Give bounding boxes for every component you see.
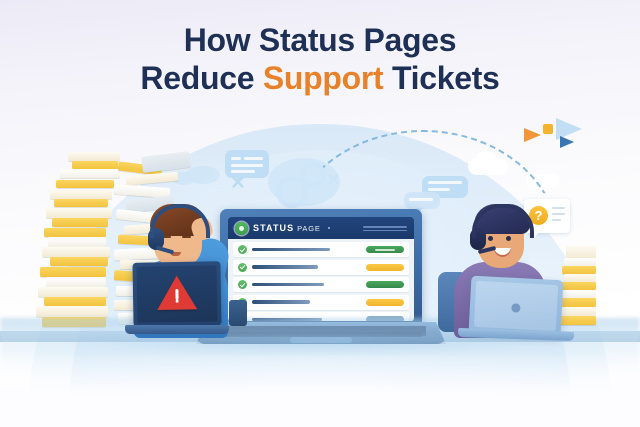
- paper-plane-icon: [560, 136, 574, 148]
- status-page-title: STATUS PAGE: [253, 223, 321, 233]
- right-laptop: [469, 276, 564, 337]
- status-badge: [366, 299, 404, 306]
- ticket: [558, 298, 596, 307]
- left-laptop-base: [125, 325, 229, 334]
- status-page-laptop: STATUS PAGE: [220, 209, 422, 327]
- service-name-placeholder: [252, 248, 330, 251]
- header-meta-line: [363, 226, 407, 228]
- ticket: [562, 266, 596, 274]
- status-row[interactable]: [233, 295, 409, 310]
- bubble-line: [244, 157, 263, 160]
- ticket: [564, 274, 596, 282]
- service-name-placeholder: [252, 265, 318, 268]
- ticket: [562, 290, 596, 298]
- title-highlight: Support: [263, 60, 392, 96]
- ticket: [566, 246, 596, 258]
- header-dot: [328, 227, 330, 229]
- ticket: [38, 287, 108, 297]
- illustration-canvas: ✕ ✕ ?: [0, 0, 640, 427]
- ticket: [42, 247, 110, 257]
- check-circle-icon: [238, 245, 247, 254]
- header-meta: [363, 226, 407, 231]
- title-line-1: How Status Pages: [184, 22, 457, 58]
- title-line-2-part-1: Reduce: [140, 60, 262, 96]
- ticket: [48, 237, 106, 247]
- status-page-screen[interactable]: STATUS PAGE: [228, 217, 414, 321]
- status-badge: [366, 264, 404, 271]
- warning-exclamation-bar: [175, 289, 178, 300]
- status-page-rows: [228, 239, 414, 321]
- ticket: [564, 258, 596, 266]
- plane-badge-icon: [543, 124, 553, 134]
- title-line-2: Reduce Support Tickets: [0, 60, 640, 98]
- check-circle-icon: [238, 263, 247, 272]
- ticket: [52, 218, 108, 227]
- status-badge: [366, 281, 404, 288]
- ticket: [126, 172, 179, 185]
- left-laptop-screen: [137, 265, 218, 322]
- status-page-header: STATUS PAGE: [228, 217, 414, 239]
- ticket: [36, 306, 108, 317]
- left-laptop: [132, 261, 221, 327]
- status-row[interactable]: [233, 260, 409, 275]
- page-title: How Status Pages Reduce Support Tickets: [0, 22, 640, 98]
- ticket: [560, 282, 596, 290]
- ticket: [556, 316, 596, 325]
- ticket: [72, 161, 118, 169]
- ticket: [40, 267, 106, 277]
- paper-plane-icon: [524, 128, 541, 142]
- ticket: [54, 199, 108, 207]
- right-laptop-screen: [474, 281, 558, 331]
- brand-primary: STATUS: [253, 223, 294, 233]
- bubble-line: [231, 157, 241, 160]
- status-row[interactable]: [233, 277, 409, 292]
- laptop-logo-icon: [511, 304, 520, 313]
- ticket: [68, 152, 120, 161]
- ticket: [60, 169, 120, 178]
- x-mark-icon: ✕: [230, 172, 246, 195]
- status-row[interactable]: [233, 242, 409, 257]
- ticket: [50, 190, 112, 199]
- ticket-stamped: [141, 151, 191, 173]
- ticket: [46, 208, 112, 218]
- check-circle-icon: [238, 280, 247, 289]
- status-badge: [366, 246, 404, 253]
- service-name-placeholder: [252, 283, 324, 286]
- warning-exclamation-dot: [176, 300, 179, 303]
- right-ticket-pile: [556, 246, 612, 332]
- coffee-cup: [229, 300, 247, 326]
- header-meta-rule: [363, 230, 407, 231]
- bottom-fade: [0, 355, 640, 427]
- ticket: [44, 297, 106, 306]
- ticket: [46, 277, 106, 287]
- bubble-line: [231, 164, 263, 167]
- title-line-2-part-2: Tickets: [392, 60, 500, 96]
- service-name-placeholder: [252, 300, 310, 303]
- brand-secondary: PAGE: [294, 224, 320, 233]
- ticket: [56, 180, 114, 188]
- ticket: [44, 228, 106, 237]
- ticket: [560, 307, 596, 316]
- ticket: [50, 257, 108, 266]
